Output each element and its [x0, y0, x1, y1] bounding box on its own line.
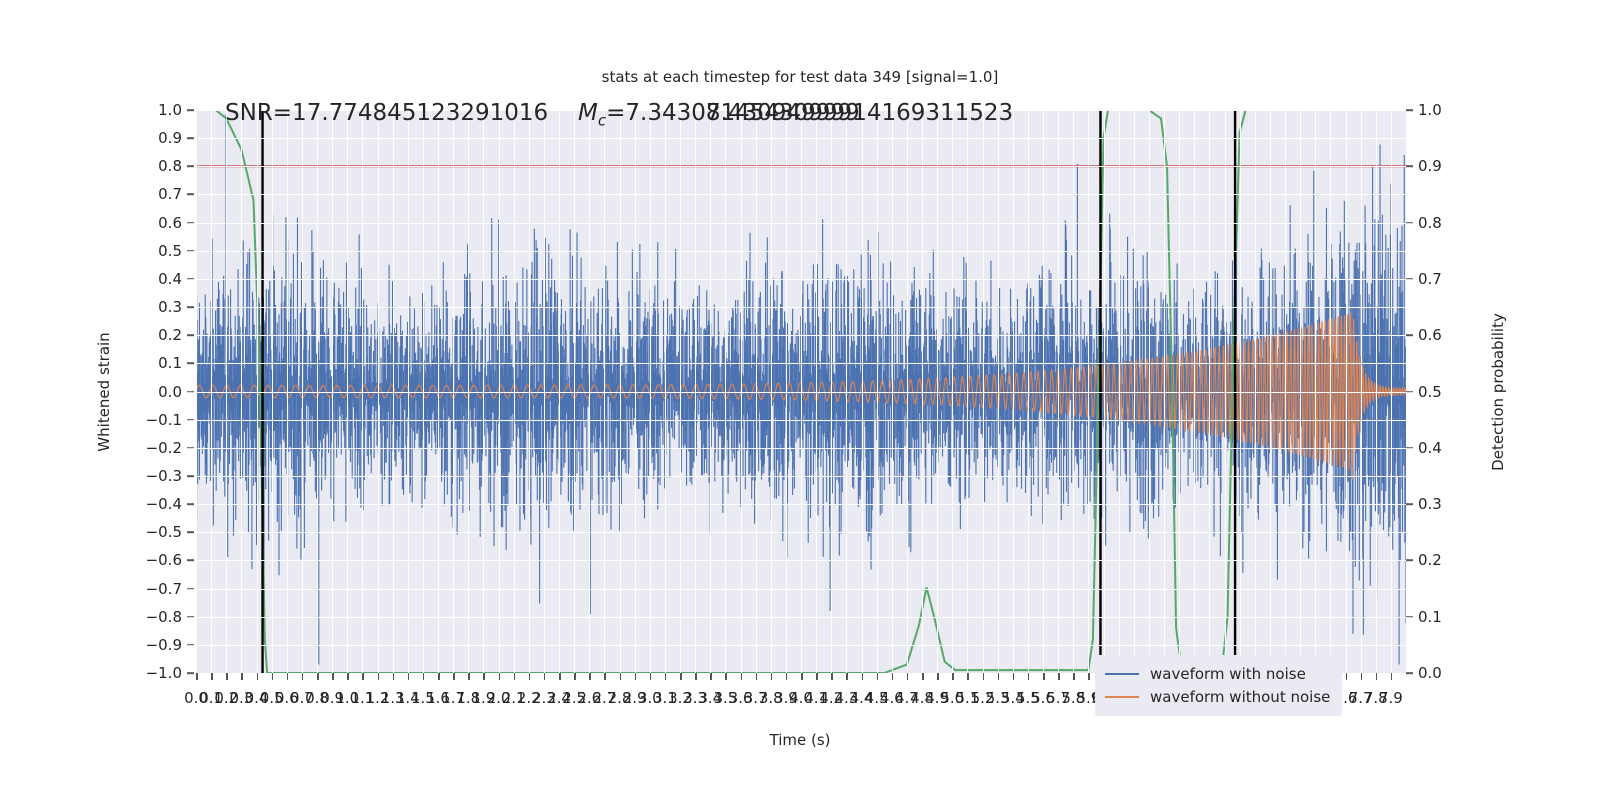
y-tick-label-left: −1.0 — [146, 664, 182, 682]
tick-mark — [998, 673, 1000, 680]
tick-mark — [1346, 673, 1348, 680]
tick-mark — [362, 673, 364, 680]
grid-line-vertical — [862, 110, 863, 673]
tick-mark — [892, 673, 894, 680]
mc-symbol: M — [578, 100, 598, 126]
tick-mark — [1406, 109, 1413, 111]
tick-mark — [514, 673, 516, 680]
tick-mark — [438, 673, 440, 680]
grid-line-vertical — [1149, 110, 1150, 673]
tick-mark — [187, 419, 194, 421]
grid-line-vertical — [559, 110, 560, 673]
y-axis-right-label: Detection probability — [1489, 313, 1507, 471]
grid-line-vertical — [1270, 110, 1271, 673]
grid-line-vertical — [1028, 110, 1029, 673]
tick-mark — [695, 673, 697, 680]
tick-mark — [1406, 166, 1413, 168]
tick-mark — [393, 673, 395, 680]
grid-line-vertical — [650, 110, 651, 673]
tick-mark — [680, 673, 682, 680]
y-tick-label-left: −0.5 — [146, 523, 182, 541]
tick-mark — [226, 673, 228, 680]
legend-label: waveform with noise — [1150, 665, 1306, 683]
grid-line-vertical — [362, 110, 363, 673]
y-tick-label-right: 0.0 — [1418, 664, 1442, 682]
tick-mark — [862, 673, 864, 680]
tick-mark — [952, 673, 954, 680]
grid-line-vertical — [317, 110, 318, 673]
y-tick-label-left: 0.5 — [158, 242, 182, 260]
tick-mark — [983, 673, 985, 680]
tick-mark — [196, 673, 198, 680]
figure: stats at each timestep for test data 349… — [0, 0, 1600, 800]
tick-mark — [453, 673, 455, 680]
grid-line-vertical — [695, 110, 696, 673]
grid-line-vertical — [967, 110, 968, 673]
tick-mark — [187, 560, 194, 562]
y-tick-label-right: 0.8 — [1418, 214, 1442, 232]
tick-mark — [1361, 673, 1363, 680]
tick-mark — [1376, 673, 1378, 680]
tick-mark — [1406, 278, 1413, 280]
chart-title: stats at each timestep for test data 349… — [0, 68, 1600, 86]
tick-mark — [1406, 503, 1413, 505]
tick-mark — [187, 447, 194, 449]
tick-mark — [187, 334, 194, 336]
tick-mark — [187, 166, 194, 168]
y-tick-label-left: 0.1 — [158, 354, 182, 372]
tick-mark — [187, 475, 194, 477]
grid-line-vertical — [1164, 110, 1165, 673]
tick-mark — [1043, 673, 1045, 680]
tick-mark — [786, 673, 788, 680]
tick-mark — [423, 673, 425, 680]
plot-area — [196, 110, 1406, 673]
tick-mark — [187, 503, 194, 505]
grid-line-vertical — [257, 110, 258, 673]
tick-mark — [1088, 673, 1090, 680]
tick-mark — [529, 673, 531, 680]
y-tick-label-right: 0.9 — [1418, 157, 1442, 175]
grid-line-vertical — [1134, 110, 1135, 673]
tick-mark — [635, 673, 637, 680]
y-tick-label-left: 0.7 — [158, 185, 182, 203]
tick-mark — [1073, 673, 1075, 680]
grid-line-vertical — [438, 110, 439, 673]
tick-mark — [187, 391, 194, 393]
grid-line-vertical — [1209, 110, 1210, 673]
x-axis-label: Time (s) — [0, 731, 1600, 749]
tick-mark — [665, 673, 667, 680]
grid-line-vertical — [196, 110, 197, 673]
grid-line-vertical — [241, 110, 242, 673]
grid-line-vertical — [1073, 110, 1074, 673]
grid-line-vertical — [983, 110, 984, 673]
grid-line-vertical — [756, 110, 757, 673]
tick-mark — [922, 673, 924, 680]
grid-line-vertical — [1104, 110, 1105, 673]
tick-mark — [725, 673, 727, 680]
grid-line-vertical — [1255, 110, 1256, 673]
y-tick-label-left: −0.6 — [146, 551, 182, 569]
tick-mark — [187, 531, 194, 533]
tick-mark — [967, 673, 969, 680]
grid-line-vertical — [1285, 110, 1286, 673]
tick-mark — [816, 673, 818, 680]
grid-line-vertical — [1361, 110, 1362, 673]
y-tick-label-left: −0.7 — [146, 580, 182, 598]
tick-mark — [187, 109, 194, 111]
legend-swatch — [1105, 696, 1139, 698]
grid-line-vertical — [710, 110, 711, 673]
tick-mark — [187, 672, 194, 674]
tick-mark — [408, 673, 410, 680]
tick-mark — [907, 673, 909, 680]
tick-mark — [846, 673, 848, 680]
grid-line-vertical — [1013, 110, 1014, 673]
tick-mark — [287, 673, 289, 680]
grid-line-vertical — [1346, 110, 1347, 673]
tick-mark — [1058, 673, 1060, 680]
tick-mark — [187, 194, 194, 196]
grid-line-vertical — [604, 110, 605, 673]
grid-line-vertical — [302, 110, 303, 673]
grid-line-vertical — [453, 110, 454, 673]
tick-mark — [187, 306, 194, 308]
grid-line-vertical — [892, 110, 893, 673]
grid-line-vertical — [680, 110, 681, 673]
tick-mark — [877, 673, 879, 680]
y-tick-label-right: 1.0 — [1418, 101, 1442, 119]
tick-mark — [483, 673, 485, 680]
tick-mark — [710, 673, 712, 680]
grid-line-vertical — [998, 110, 999, 673]
grid-line-vertical — [1376, 110, 1377, 673]
tick-mark — [589, 673, 591, 680]
grid-line-vertical — [332, 110, 333, 673]
grid-line-vertical — [741, 110, 742, 673]
annotation-overlap-value: 7.430949999 — [706, 100, 860, 126]
grid-line-vertical — [378, 110, 379, 673]
y-tick-label-left: 0.2 — [158, 326, 182, 344]
y-tick-label-right: 0.7 — [1418, 270, 1442, 288]
y-tick-label-left: 0.3 — [158, 298, 182, 316]
tick-mark — [544, 673, 546, 680]
legend-item: waveform with noise — [1105, 662, 1330, 685]
y-tick-label-left: −0.1 — [146, 411, 182, 429]
grid-line-vertical — [544, 110, 545, 673]
mc-subscript: c — [598, 112, 606, 130]
tick-mark — [347, 673, 349, 680]
y-tick-label-left: −0.3 — [146, 467, 182, 485]
grid-line-vertical — [665, 110, 666, 673]
grid-line-vertical — [1315, 110, 1316, 673]
tick-mark — [302, 673, 304, 680]
grid-line-vertical — [287, 110, 288, 673]
tick-mark — [211, 673, 213, 680]
tick-mark — [187, 222, 194, 224]
tick-mark — [741, 673, 743, 680]
grid-line-vertical — [846, 110, 847, 673]
tick-mark — [187, 250, 194, 252]
y-axis-left-label: Whitened strain — [95, 332, 113, 451]
grid-line-vertical — [771, 110, 772, 673]
tick-mark — [187, 137, 194, 139]
legend-item: waveform without noise — [1105, 685, 1330, 708]
tick-mark — [574, 673, 576, 680]
grid-line-vertical — [1179, 110, 1180, 673]
grid-line-vertical — [635, 110, 636, 673]
tick-mark — [468, 673, 470, 680]
tick-mark — [937, 673, 939, 680]
grid-line-vertical — [1119, 110, 1120, 673]
y-tick-label-left: −0.2 — [146, 439, 182, 457]
tick-mark — [771, 673, 773, 680]
grid-line-vertical — [226, 110, 227, 673]
grid-line-vertical — [1194, 110, 1195, 673]
y-tick-label-left: 0.9 — [158, 129, 182, 147]
tick-mark — [1391, 673, 1393, 680]
y-tick-label-left: 0.0 — [158, 383, 182, 401]
y-axis-right-ticks: 1.00.90.80.70.60.50.40.30.20.10.0 — [1418, 110, 1478, 673]
grid-line-vertical — [1225, 110, 1226, 673]
tick-mark — [187, 278, 194, 280]
grid-line-vertical — [211, 110, 212, 673]
tick-mark — [499, 673, 501, 680]
tick-mark — [559, 673, 561, 680]
grid-line-vertical — [831, 110, 832, 673]
legend-swatch — [1105, 673, 1139, 675]
y-tick-label-left: 0.4 — [158, 270, 182, 288]
legend: waveform with noisewaveform without nois… — [1095, 655, 1342, 716]
tick-mark — [187, 616, 194, 618]
grid-line-vertical — [1058, 110, 1059, 673]
y-tick-label-right: 0.2 — [1418, 551, 1442, 569]
y-tick-label-left: −0.8 — [146, 608, 182, 626]
annotation-snr: SNR=17.774845123291016 — [225, 100, 548, 126]
tick-mark — [187, 363, 194, 365]
legend-label: waveform without noise — [1150, 688, 1330, 706]
tick-mark — [241, 673, 243, 680]
tick-mark — [257, 673, 259, 680]
grid-line-vertical — [801, 110, 802, 673]
y-tick-label-left: 0.8 — [158, 157, 182, 175]
x-tick-label: 7.9 — [1379, 689, 1403, 707]
tick-mark — [1406, 616, 1413, 618]
grid-line-vertical — [423, 110, 424, 673]
tick-mark — [1406, 560, 1413, 562]
tick-mark — [1406, 222, 1413, 224]
grid-line-vertical — [393, 110, 394, 673]
tick-mark — [1406, 334, 1413, 336]
grid-line-vertical — [922, 110, 923, 673]
y-tick-label-left: −0.9 — [146, 636, 182, 654]
grid-line-vertical — [529, 110, 530, 673]
tick-mark — [378, 673, 380, 680]
tick-mark — [604, 673, 606, 680]
grid-line-vertical — [1043, 110, 1044, 673]
grid-line-vertical — [483, 110, 484, 673]
grid-line-vertical — [1088, 110, 1089, 673]
grid-line-vertical — [952, 110, 953, 673]
grid-line-vertical — [574, 110, 575, 673]
tick-mark — [620, 673, 622, 680]
y-tick-label-right: 0.4 — [1418, 439, 1442, 457]
grid-line-vertical — [877, 110, 878, 673]
tick-mark — [187, 644, 194, 646]
grid-line-vertical — [468, 110, 469, 673]
tick-mark — [272, 673, 274, 680]
grid-line-vertical — [907, 110, 908, 673]
tick-mark — [650, 673, 652, 680]
grid-line-vertical — [937, 110, 938, 673]
tick-mark — [332, 673, 334, 680]
tick-mark — [801, 673, 803, 680]
y-tick-label-right: 0.5 — [1418, 383, 1442, 401]
grid — [196, 110, 1406, 673]
y-tick-label-left: 1.0 — [158, 101, 182, 119]
tick-mark — [831, 673, 833, 680]
grid-line-vertical — [408, 110, 409, 673]
grid-line-vertical — [1240, 110, 1241, 673]
y-tick-label-left: 0.6 — [158, 214, 182, 232]
grid-line-vertical — [725, 110, 726, 673]
y-tick-label-left: −0.4 — [146, 495, 182, 513]
grid-line-vertical — [620, 110, 621, 673]
tick-mark — [1028, 673, 1030, 680]
tick-mark — [756, 673, 758, 680]
grid-line-vertical — [514, 110, 515, 673]
y-tick-label-right: 0.3 — [1418, 495, 1442, 513]
grid-line-vertical — [589, 110, 590, 673]
tick-mark — [1406, 672, 1413, 674]
grid-line-vertical — [1391, 110, 1392, 673]
grid-line-vertical — [786, 110, 787, 673]
tick-mark — [1406, 391, 1413, 393]
tick-mark — [187, 588, 194, 590]
tick-mark — [1013, 673, 1015, 680]
grid-line-vertical — [499, 110, 500, 673]
grid-line-vertical — [1330, 110, 1331, 673]
grid-line-vertical — [1300, 110, 1301, 673]
grid-line-vertical — [272, 110, 273, 673]
y-tick-label-right: 0.1 — [1418, 608, 1442, 626]
tick-mark — [1406, 447, 1413, 449]
grid-line-vertical — [347, 110, 348, 673]
grid-line-vertical — [816, 110, 817, 673]
tick-mark — [317, 673, 319, 680]
y-tick-label-right: 0.6 — [1418, 326, 1442, 344]
